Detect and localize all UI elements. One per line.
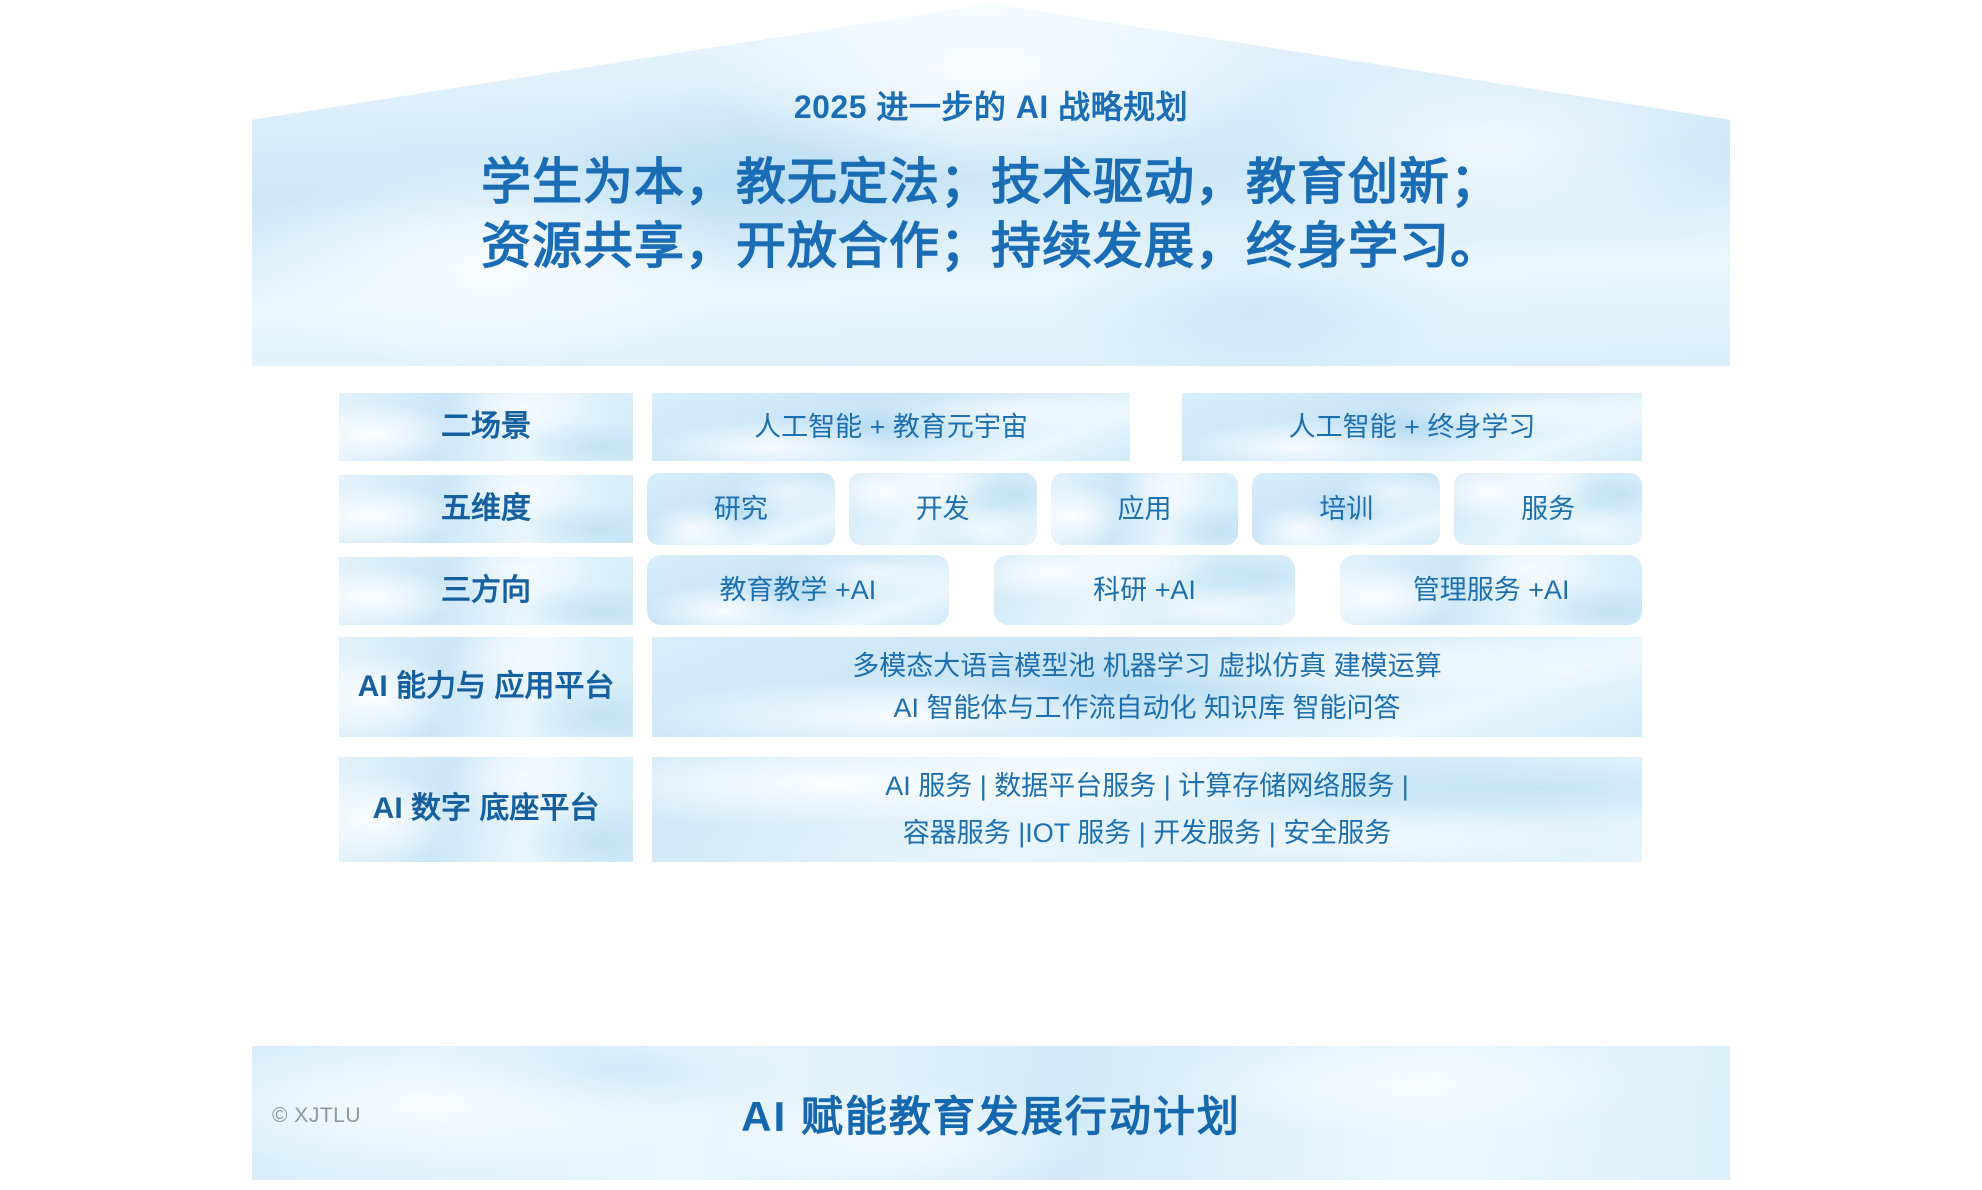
scenario-item-1[interactable]: 人工智能 + 教育元宇宙 xyxy=(652,393,1130,461)
direction-item-2-label: 科研 +AI xyxy=(1093,572,1196,608)
scenario-item-2-label: 人工智能 + 终身学习 xyxy=(1289,409,1536,445)
row-label-text-block: AI 能力与 应用平台 xyxy=(358,669,615,706)
slogan-text: 学生为本，教无定法；技术驱动，教育创新； 资源共享，开放合作；持续发展，终身学习… xyxy=(252,150,1730,278)
dimension-item-4[interactable]: 培训 xyxy=(1252,473,1440,545)
dimension-item-5[interactable]: 服务 xyxy=(1454,473,1642,545)
row-label-five-dimensions: 五维度 xyxy=(339,475,633,543)
scenario-item-2[interactable]: 人工智能 + 终身学习 xyxy=(1182,393,1642,461)
row-three-directions: 教育教学 +AI 科研 +AI 管理服务 +AI xyxy=(647,555,1642,625)
direction-item-3[interactable]: 管理服务 +AI xyxy=(1340,555,1642,625)
row-label-text: 二场景 xyxy=(441,409,531,446)
row-label-line-2: 底座平台 xyxy=(479,792,599,825)
row-ai-digital-base-platform: AI 服务 | 数据平台服务 | 计算存储网络服务 | 容器服务 |IOT 服务… xyxy=(652,757,1642,862)
dimension-item-2[interactable]: 开发 xyxy=(849,473,1037,545)
footer-banner: AI 赋能教育发展行动计划 xyxy=(252,1046,1730,1180)
slogan-line-2: 资源共享，开放合作；持续发展，终身学习。 xyxy=(252,214,1730,278)
ai-capability-line-1: 多模态大语言模型池 机器学习 虚拟仿真 建模运算 xyxy=(852,648,1442,684)
dimension-item-3[interactable]: 应用 xyxy=(1051,473,1239,545)
direction-item-2[interactable]: 科研 +AI xyxy=(994,555,1296,625)
row-two-scenarios: 人工智能 + 教育元宇宙 人工智能 + 终身学习 xyxy=(652,393,1642,461)
row-label-line-1: AI 数字 xyxy=(373,792,471,825)
row-label-three-directions: 三方向 xyxy=(339,557,633,625)
row-label-line-2: 应用平台 xyxy=(494,670,614,703)
direction-item-3-label: 管理服务 +AI xyxy=(1413,572,1570,608)
row-five-dimensions: 研究 开发 应用 培训 服务 xyxy=(647,473,1642,545)
scenario-item-1-label: 人工智能 + 教育元宇宙 xyxy=(754,409,1028,445)
ai-capability-content[interactable]: 多模态大语言模型池 机器学习 虚拟仿真 建模运算 AI 智能体与工作流自动化 知… xyxy=(652,637,1642,737)
row-label-ai-capability-platform: AI 能力与 应用平台 xyxy=(339,637,633,737)
ai-capability-line-2: AI 智能体与工作流自动化 知识库 智能问答 xyxy=(893,690,1400,726)
direction-item-1[interactable]: 教育教学 +AI xyxy=(647,555,949,625)
strategy-year-title: 2025 进一步的 AI 战略规划 xyxy=(252,82,1730,128)
dimension-item-2-label: 开发 xyxy=(916,491,970,527)
row-label-text-block: AI 数字 底座平台 xyxy=(373,791,600,828)
copyright-notice: © XJTLU xyxy=(272,1104,361,1128)
row-label-text: 三方向 xyxy=(441,573,531,610)
action-plan-title: AI 赋能教育发展行动计划 xyxy=(741,1083,1241,1144)
dimension-item-1[interactable]: 研究 xyxy=(647,473,835,545)
dimension-item-1-label: 研究 xyxy=(714,491,768,527)
slogan-line-1: 学生为本，教无定法；技术驱动，教育创新； xyxy=(252,150,1730,214)
ai-digital-base-line-1: AI 服务 | 数据平台服务 | 计算存储网络服务 | xyxy=(885,768,1409,804)
ai-digital-base-line-2: 容器服务 |IOT 服务 | 开发服务 | 安全服务 xyxy=(903,815,1392,851)
direction-item-1-label: 教育教学 +AI xyxy=(719,572,876,608)
row-ai-capability-platform: 多模态大语言模型池 机器学习 虚拟仿真 建模运算 AI 智能体与工作流自动化 知… xyxy=(652,637,1642,737)
roof-panel: 2025 进一步的 AI 战略规划 学生为本，教无定法；技术驱动，教育创新； 资… xyxy=(252,4,1730,366)
dimension-item-4-label: 培训 xyxy=(1319,491,1373,527)
row-label-text: 五维度 xyxy=(441,491,531,528)
ai-digital-base-content[interactable]: AI 服务 | 数据平台服务 | 计算存储网络服务 | 容器服务 |IOT 服务… xyxy=(652,757,1642,862)
dimension-item-5-label: 服务 xyxy=(1521,491,1575,527)
row-label-two-scenarios: 二场景 xyxy=(339,393,633,461)
row-label-ai-digital-base-platform: AI 数字 底座平台 xyxy=(339,757,633,862)
row-spacer xyxy=(1130,393,1182,461)
row-label-line-1: AI 能力与 xyxy=(358,670,486,703)
dimension-item-3-label: 应用 xyxy=(1117,491,1171,527)
